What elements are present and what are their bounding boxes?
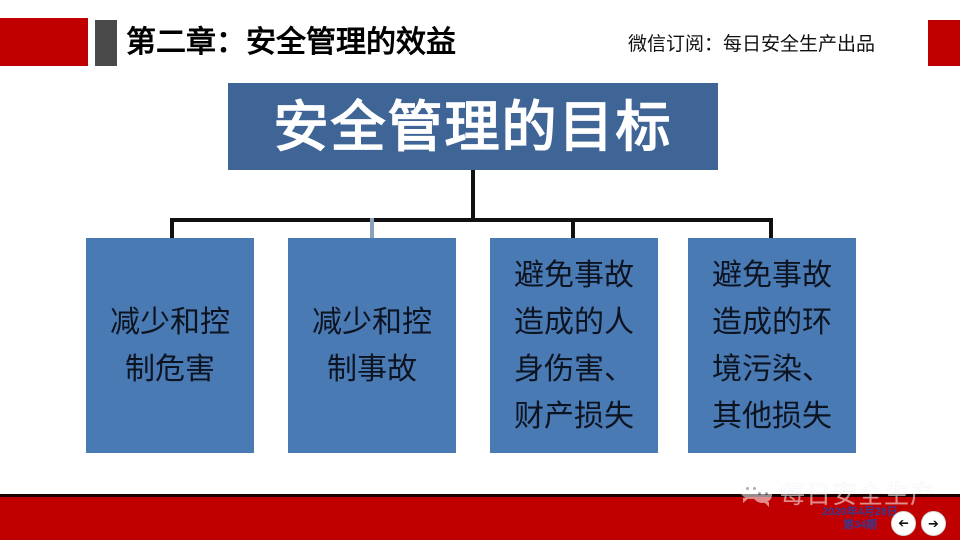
diagram-leaf-row: 减少和控 制危害 减少和控 制事故 避免事故 造成的人 身伤害、 财产损失 避免… [0, 238, 960, 453]
connector-drop-3 [571, 218, 575, 240]
diagram-leaf-label-1: 减少和控 制危害 [110, 299, 230, 393]
diagram-leaf-node-3: 避免事故 造成的人 身伤害、 财产损失 [490, 238, 658, 453]
connector-drop-4 [769, 218, 773, 240]
connector-root-stem [471, 170, 475, 222]
connector-drop-2 [370, 218, 374, 240]
diagram-leaf-label-2: 减少和控 制事故 [312, 299, 432, 393]
subscription-note: 微信订阅：每日安全生产出品 [628, 32, 875, 58]
connector-horizontal-bar [170, 218, 773, 222]
connector-drop-1 [170, 218, 174, 240]
diagram-root-label: 安全管理的目标 [273, 97, 672, 157]
arrow-right-icon[interactable]: ➔ [921, 511, 946, 536]
diagram-leaf-node-4: 避免事故 造成的环 境污染、 其他损失 [688, 238, 856, 453]
diagram-leaf-node-2: 减少和控 制事故 [288, 238, 456, 453]
diagram-leaf-label-4: 避免事故 造成的环 境污染、 其他损失 [712, 252, 832, 440]
header-accent-block-left [0, 18, 88, 66]
arrow-right-glyph: ➔ [928, 517, 939, 530]
footer-bar [0, 494, 960, 540]
diagram-leaf-node-1: 减少和控 制危害 [86, 238, 254, 453]
header-gray-marker [95, 20, 117, 66]
diagram-leaf-label-3: 避免事故 造成的人 身伤害、 财产损失 [514, 252, 634, 440]
arrow-left-icon[interactable]: ➔ [891, 511, 916, 536]
header-accent-block-right [928, 20, 960, 66]
page-title: 第二章：安全管理的效益 [126, 22, 456, 64]
arrow-left-glyph: ➔ [898, 517, 909, 530]
diagram-root-node: 安全管理的目标 [228, 83, 718, 170]
